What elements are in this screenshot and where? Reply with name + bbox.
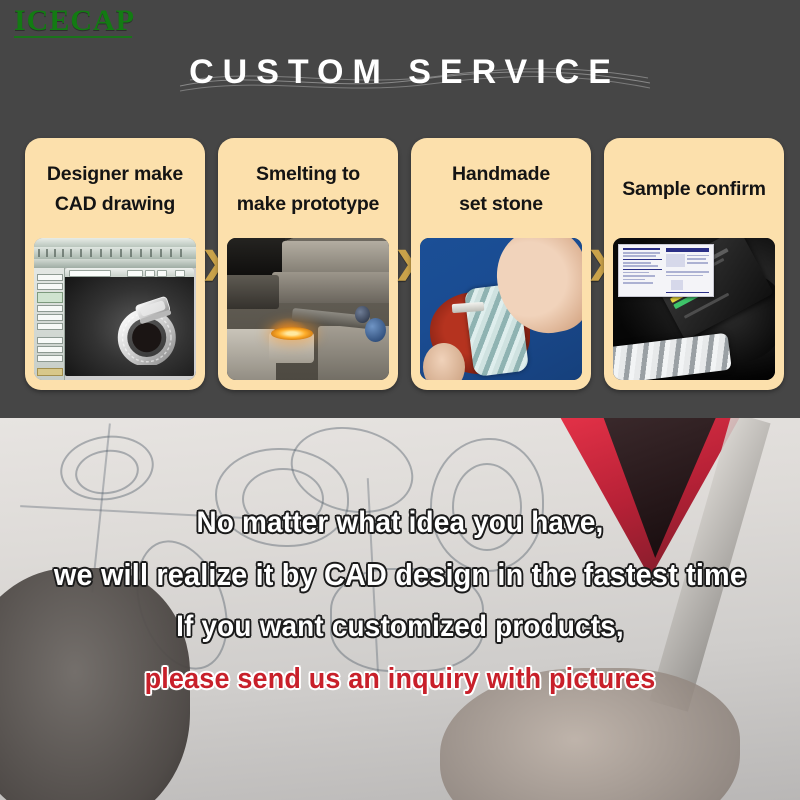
hand-setting-stones bbox=[420, 238, 582, 380]
promo-cta-line: please send us an inquiry with pictures bbox=[28, 653, 772, 705]
process-steps: Designer make CAD drawing bbox=[0, 138, 800, 390]
process-card-title-line1: Handmade bbox=[452, 159, 550, 189]
process-card-title: Designer make CAD drawing bbox=[31, 150, 199, 228]
process-card-designer-cad[interactable]: Designer make CAD drawing bbox=[25, 138, 205, 390]
process-card-title-line2: set stone bbox=[459, 189, 543, 219]
promo-line-2: we will realize it by CAD design in the … bbox=[28, 549, 772, 601]
process-card-title-line2: CAD drawing bbox=[55, 189, 175, 219]
page-title: CUSTOM SERVICE bbox=[0, 48, 800, 96]
page-title-wrap: CUSTOM SERVICE bbox=[0, 48, 800, 100]
ring-3d-model bbox=[109, 292, 189, 365]
process-card-smelting[interactable]: Smelting to make prototype bbox=[218, 138, 398, 390]
brand-logo: ICECAP bbox=[14, 6, 135, 36]
process-card-set-stone[interactable]: Handmade set stone bbox=[411, 138, 591, 390]
gia-certificate bbox=[618, 244, 714, 297]
process-card-title: Sample confirm bbox=[610, 150, 778, 228]
brand-logo-underline bbox=[14, 36, 132, 38]
promo-text-block: No matter what idea you have, we will re… bbox=[0, 497, 800, 705]
promo-line-1: No matter what idea you have, bbox=[28, 497, 772, 549]
process-card-title-line1: Designer make bbox=[47, 159, 183, 189]
diamond-tester-certificate bbox=[613, 238, 775, 380]
process-card-title-line1: Smelting to bbox=[256, 159, 360, 189]
process-card-title-line1: Sample confirm bbox=[622, 174, 766, 204]
process-card-title-line2: make prototype bbox=[237, 189, 379, 219]
cad-software-ring-render bbox=[34, 238, 196, 380]
process-card-title: Smelting to make prototype bbox=[224, 150, 392, 228]
promo-line-3: If you want customized products, bbox=[28, 601, 772, 653]
metal-smelting-crucible bbox=[227, 238, 389, 380]
process-card-title: Handmade set stone bbox=[417, 150, 585, 228]
process-card-sample-confirm[interactable]: Sample confirm bbox=[604, 138, 784, 390]
